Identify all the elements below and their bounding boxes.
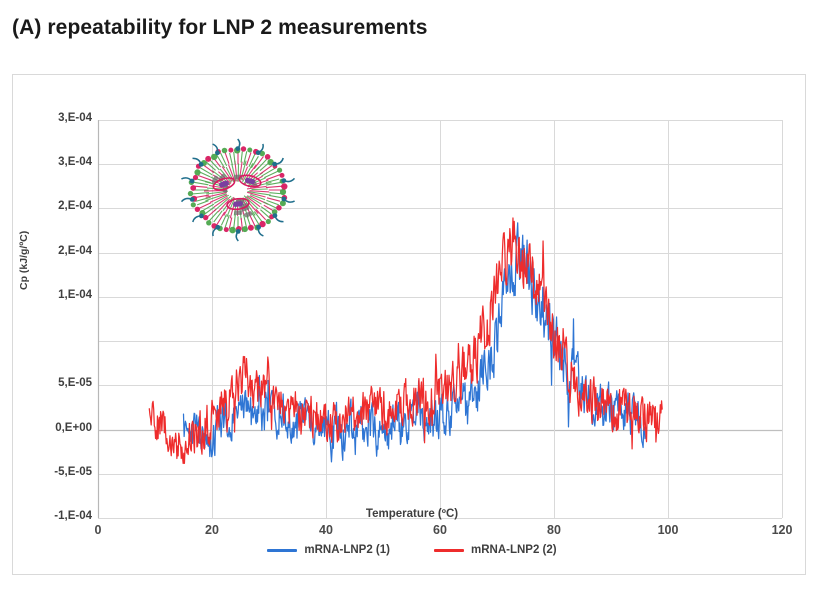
legend-swatch-series2 [434, 549, 464, 552]
y-tick-label: 2,E-04 [8, 200, 92, 212]
plot-area [98, 120, 782, 518]
y-axis-title: Cp (kJ/g/ºC) [18, 276, 30, 290]
x-axis-title: Temperature (ºC) [0, 508, 824, 520]
legend-label-series2: mRNA-LNP2 (2) [471, 544, 557, 556]
y-tick-label: 5,E-05 [8, 377, 92, 389]
x-tick-label: 80 [524, 523, 584, 537]
legend-item[interactable]: mRNA-LNP2 (2) [434, 544, 557, 556]
x-tick-label: 20 [182, 523, 242, 537]
x-tick-label: 100 [638, 523, 698, 537]
y-tick-label: 3,E-04 [8, 156, 92, 168]
y-tick-label: 0,E+00 [8, 422, 92, 434]
lipid-nanoparticle-diagram [150, 128, 326, 252]
legend-swatch-series1 [267, 549, 297, 552]
lnp-icon [150, 128, 326, 252]
legend-label-series1: mRNA-LNP2 (1) [304, 544, 390, 556]
chart-legend: mRNA-LNP2 (1) mRNA-LNP2 (2) [0, 544, 824, 556]
y-tick-label: 3,E-04 [8, 112, 92, 124]
x-tick-label: 0 [68, 523, 128, 537]
legend-item[interactable]: mRNA-LNP2 (1) [267, 544, 390, 556]
x-tick-label: 120 [752, 523, 812, 537]
y-tick-label: 1,E-04 [8, 289, 92, 301]
x-tick-label: 60 [410, 523, 470, 537]
x-tick-label: 40 [296, 523, 356, 537]
series-line-1 [184, 223, 645, 462]
y-tick-label: -5,E-05 [8, 466, 92, 478]
